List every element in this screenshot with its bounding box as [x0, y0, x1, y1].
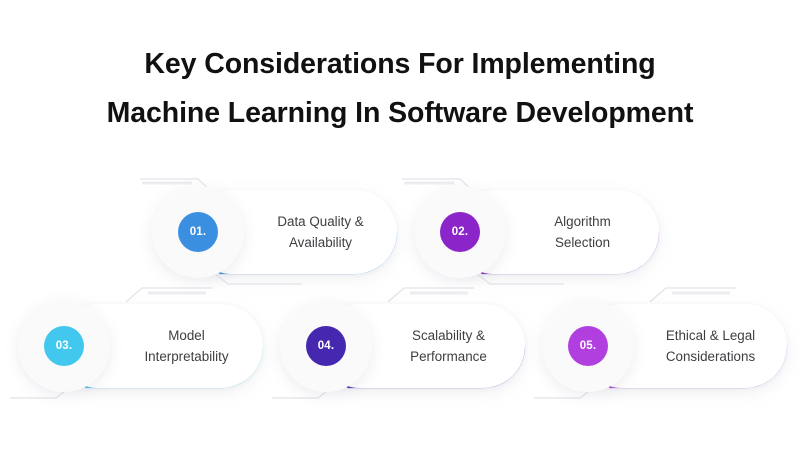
considerations-board: 01. Data Quality & Availability [0, 0, 800, 451]
consideration-card-5[interactable]: 05. Ethical & Legal Considerations [542, 300, 787, 392]
card-label-line-1: Scalability & [410, 325, 487, 346]
card-label: Algorithm Selection [506, 186, 659, 278]
card-number-badge: 05. [568, 326, 608, 366]
card-label-line-1: Ethical & Legal [666, 325, 755, 346]
consideration-card-1[interactable]: 01. Data Quality & Availability [152, 186, 397, 278]
card-label: Scalability & Performance [372, 300, 525, 392]
card-label-line-2: Selection [554, 232, 611, 253]
card-number-badge: 03. [44, 326, 84, 366]
card-number-badge: 01. [178, 212, 218, 252]
consideration-card-4[interactable]: 04. Scalability & Performance [280, 300, 525, 392]
card-label-line-2: Availability [277, 232, 363, 253]
card-label: Ethical & Legal Considerations [634, 300, 787, 392]
card-number-badge: 02. [440, 212, 480, 252]
card-label: Data Quality & Availability [244, 186, 397, 278]
card-label: Model Interpretability [110, 300, 263, 392]
card-label-line-1: Algorithm [554, 211, 611, 232]
card-number-badge: 04. [306, 326, 346, 366]
card-label-line-2: Considerations [666, 346, 755, 367]
card-label-line-1: Model [144, 325, 228, 346]
consideration-card-2[interactable]: 02. Algorithm Selection [414, 186, 659, 278]
card-label-line-1: Data Quality & [277, 211, 363, 232]
consideration-card-3[interactable]: 03. Model Interpretability [18, 300, 263, 392]
card-label-line-2: Interpretability [144, 346, 228, 367]
card-label-line-2: Performance [410, 346, 487, 367]
